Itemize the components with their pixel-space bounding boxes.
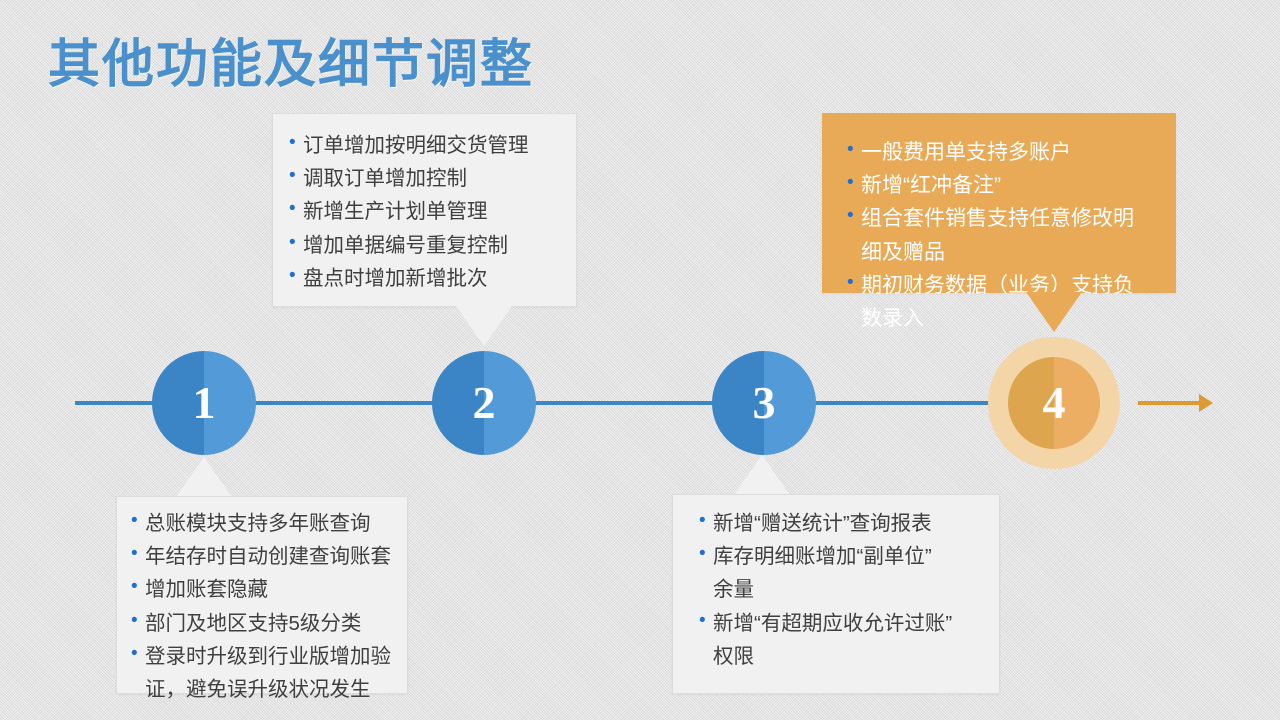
timeline-arrow-icon	[1199, 394, 1213, 412]
list-item: 登录时升级到行业版增加验 证，避免误升级状况发生	[131, 640, 395, 706]
callout-tail-4	[1026, 292, 1082, 332]
list-item: 新增生产计划单管理	[289, 195, 560, 228]
callout-list-1: 总账模块支持多年账查询 年结存时自动创建查询账套 增加账套隐藏 部门及地区支持5…	[117, 497, 407, 706]
slide-canvas: 其他功能及细节调整 1 2 3 4 订单增加按明细交货管理 调取订单增加控制 新…	[0, 0, 1280, 720]
callout-box-4: 一般费用单支持多账户 新增“红冲备注” 组合套件销售支持任意修改明 细及赠品 期…	[822, 113, 1176, 293]
timeline-node-1[interactable]: 1	[152, 351, 256, 455]
list-item: 新增“红冲备注”	[847, 169, 1161, 202]
list-item: 订单增加按明细交货管理	[289, 129, 560, 162]
list-item: 增加账套隐藏	[131, 573, 395, 606]
callout-list-2: 订单增加按明细交货管理 调取订单增加控制 新增生产计划单管理 增加单据编号重复控…	[273, 114, 576, 295]
node-number-label: 1	[152, 351, 256, 455]
callout-list-3: 新增“赠送统计”查询报表 库存明细账增加“副单位” 余量 新增“有超期应收允许过…	[673, 495, 999, 673]
callout-tail-1	[176, 457, 232, 497]
list-item: 增加单据编号重复控制	[289, 229, 560, 262]
timeline-node-3[interactable]: 3	[712, 351, 816, 455]
timeline-node-4[interactable]: 4	[1008, 357, 1100, 449]
list-item: 新增“赠送统计”查询报表	[699, 507, 985, 540]
timeline-node-2[interactable]: 2	[432, 351, 536, 455]
callout-box-2: 订单增加按明细交货管理 调取订单增加控制 新增生产计划单管理 增加单据编号重复控…	[272, 113, 577, 307]
list-item: 库存明细账增加“副单位” 余量	[699, 540, 985, 606]
callout-tail-3	[734, 455, 790, 495]
list-item: 期初财务数据（业务）支持负 数录入	[847, 269, 1161, 335]
list-item: 总账模块支持多年账查询	[131, 507, 395, 540]
list-item: 新增“有超期应收允许过账” 权限	[699, 607, 985, 673]
page-title: 其他功能及细节调整	[48, 22, 534, 97]
callout-box-3: 新增“赠送统计”查询报表 库存明细账增加“副单位” 余量 新增“有超期应收允许过…	[672, 494, 1000, 694]
callout-list-4: 一般费用单支持多账户 新增“红冲备注” 组合套件销售支持任意修改明 细及赠品 期…	[823, 114, 1175, 335]
node-number-label: 4	[1008, 357, 1100, 449]
list-item: 组合套件销售支持任意修改明 细及赠品	[847, 202, 1161, 268]
callout-tail-2	[456, 306, 512, 346]
list-item: 部门及地区支持5级分类	[131, 607, 395, 640]
node-number-label: 2	[432, 351, 536, 455]
list-item: 调取订单增加控制	[289, 162, 560, 195]
list-item: 一般费用单支持多账户	[847, 136, 1161, 169]
callout-box-1: 总账模块支持多年账查询 年结存时自动创建查询账套 增加账套隐藏 部门及地区支持5…	[116, 496, 408, 694]
node-number-label: 3	[712, 351, 816, 455]
list-item: 盘点时增加新增批次	[289, 262, 560, 295]
list-item: 年结存时自动创建查询账套	[131, 540, 395, 573]
